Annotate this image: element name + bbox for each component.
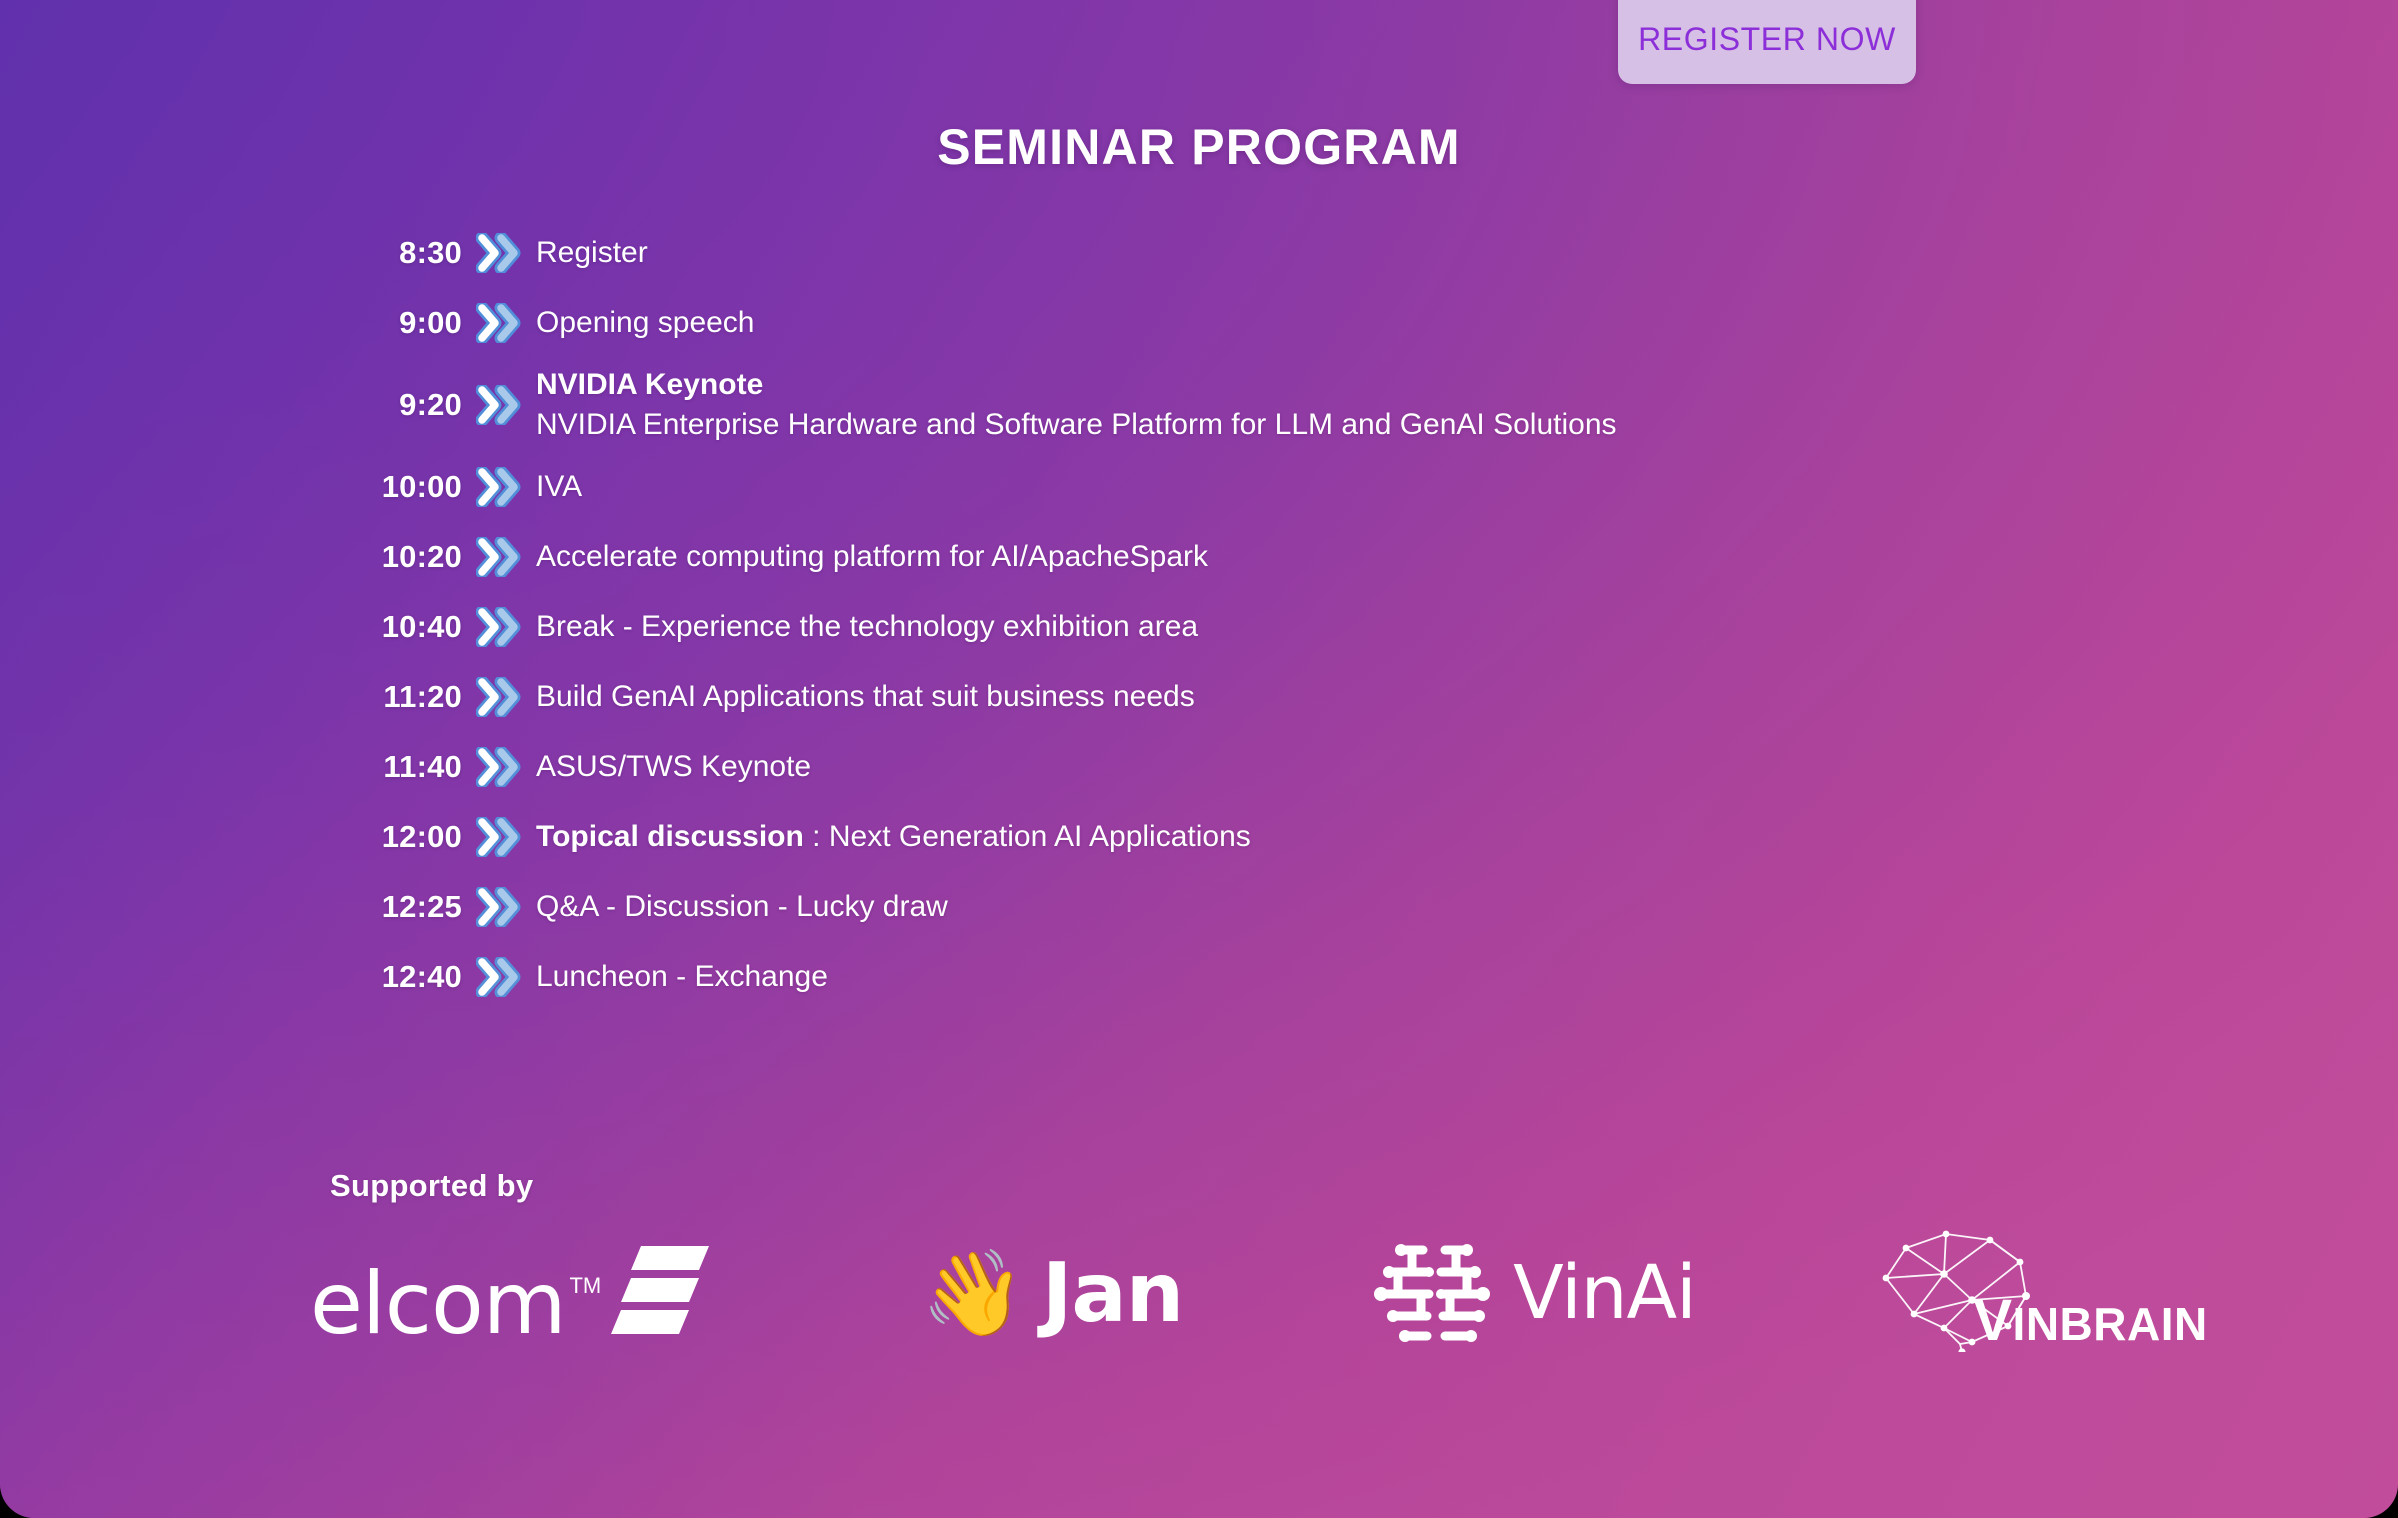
sponsor-logo-elcom[interactable]: elcom TM [310, 1228, 711, 1358]
schedule-item-title: IVA [536, 470, 582, 503]
double-chevron-right-icon [462, 385, 536, 425]
double-chevron-right-icon [462, 677, 536, 717]
waving-hand-icon: 👋 [921, 1251, 1026, 1335]
sponsor-logo-vinbrain[interactable]: VINBRAIN [1868, 1228, 2208, 1358]
schedule-item-text: Break - Experience the technology exhibi… [536, 607, 2130, 647]
double-chevron-right-icon [462, 607, 536, 647]
schedule-item-subtitle: NVIDIA Enterprise Hardware and Software … [536, 405, 2130, 445]
elcom-wordmark: elcom [310, 1265, 565, 1344]
schedule-time: 12:25 [330, 889, 462, 925]
schedule-item-text: Luncheon - Exchange [536, 957, 2130, 997]
schedule-row: 12:40 Luncheon - Exchange [330, 942, 2130, 1012]
schedule-time: 12:40 [330, 959, 462, 995]
vinbrain-wordmark-rest: INBRAIN [2013, 1298, 2208, 1350]
vinbrain-wordmark-initial: V [1973, 1288, 2012, 1353]
schedule-item-text: Q&A - Discussion - Lucky draw [536, 887, 2130, 927]
schedule-row: 11:40 ASUS/TWS Keynote [330, 732, 2130, 802]
schedule-time: 8:30 [330, 235, 462, 271]
schedule-time: 9:20 [330, 387, 462, 423]
supported-by-label: Supported by [330, 1168, 533, 1204]
vinai-circuit-nodes-icon [1371, 1236, 1499, 1351]
schedule-item-title-rest: : Next Generation AI Applications [804, 820, 1251, 853]
double-chevron-right-icon [462, 303, 536, 343]
schedule-time: 12:00 [330, 819, 462, 855]
register-now-button[interactable]: REGISTER NOW [1618, 0, 1916, 84]
double-chevron-right-icon [462, 747, 536, 787]
schedule-item-title: Break - Experience the technology exhibi… [536, 610, 1198, 643]
sponsor-logo-vinai[interactable]: VinAi [1371, 1228, 1696, 1358]
schedule-item-title: NVIDIA Keynote [536, 365, 2130, 405]
schedule-row: 12:25 Q&A - Discussion - Lucky draw [330, 872, 2130, 942]
seminar-schedule-list: 8:30 Register 9:00 [330, 218, 2130, 1012]
sponsor-logo-row: elcom TM 👋 Jan [300, 1218, 2200, 1368]
double-chevron-right-icon [462, 233, 536, 273]
schedule-item-title: Build GenAI Applications that suit busin… [536, 680, 1195, 713]
schedule-item-text: Register [536, 233, 2130, 273]
schedule-time: 10:00 [330, 469, 462, 505]
schedule-item-text: Accelerate computing platform for AI/Apa… [536, 537, 2130, 577]
double-chevron-right-icon [462, 957, 536, 997]
schedule-item-text: ASUS/TWS Keynote [536, 747, 2130, 787]
sponsor-logo-jan[interactable]: 👋 Jan [921, 1228, 1183, 1358]
schedule-row: 9:20 NVIDIA Keynote NVIDIA Enterprise Ha… [330, 358, 2130, 452]
double-chevron-right-icon [462, 537, 536, 577]
double-chevron-right-icon [462, 887, 536, 927]
schedule-item-title: Accelerate computing platform for AI/Apa… [536, 540, 1208, 573]
schedule-item-title: ASUS/TWS Keynote [536, 750, 811, 783]
schedule-time: 10:20 [330, 539, 462, 575]
trademark-icon: TM [569, 1273, 601, 1299]
schedule-time: 11:20 [330, 679, 462, 715]
schedule-row: 10:20 Accelerate computing platform for … [330, 522, 2130, 592]
vinbrain-wordmark: VINBRAIN [1973, 1287, 2207, 1354]
schedule-item-text: Build GenAI Applications that suit busin… [536, 677, 2130, 717]
schedule-item-text: NVIDIA Keynote NVIDIA Enterprise Hardwar… [536, 365, 2130, 445]
double-chevron-right-icon [462, 467, 536, 507]
schedule-time: 11:40 [330, 749, 462, 785]
schedule-time: 9:00 [330, 305, 462, 341]
schedule-time: 10:40 [330, 609, 462, 645]
schedule-row: 9:00 Opening speech [330, 288, 2130, 358]
schedule-item-title: Luncheon - Exchange [536, 960, 828, 993]
schedule-item-text: Topical discussion : Next Generation AI … [536, 817, 2130, 857]
double-chevron-right-icon [462, 817, 536, 857]
schedule-item-title: Opening speech [536, 306, 755, 339]
jan-wordmark: Jan [1042, 1246, 1183, 1341]
schedule-row: 8:30 Register [330, 218, 2130, 288]
schedule-item-text: IVA [536, 467, 2130, 507]
schedule-row: 12:00 Topical discussion : Next Generati… [330, 802, 2130, 872]
schedule-row: 10:40 Break - Experience the technology … [330, 592, 2130, 662]
schedule-item-title: Register [536, 236, 648, 269]
page-title: SEMINAR PROGRAM [0, 118, 2398, 176]
vinai-wordmark: VinAi [1513, 1250, 1696, 1336]
elcom-e-mark-icon [607, 1242, 711, 1339]
schedule-item-title: Topical discussion [536, 820, 804, 853]
schedule-row: 11:20 Build GenAI Applications that suit… [330, 662, 2130, 732]
schedule-item-text: Opening speech [536, 303, 2130, 343]
poster-page: REGISTER NOW SEMINAR PROGRAM 8:30 Regist… [0, 0, 2398, 1518]
schedule-row: 10:00 IVA [330, 452, 2130, 522]
schedule-item-title: Q&A - Discussion - Lucky draw [536, 890, 948, 923]
